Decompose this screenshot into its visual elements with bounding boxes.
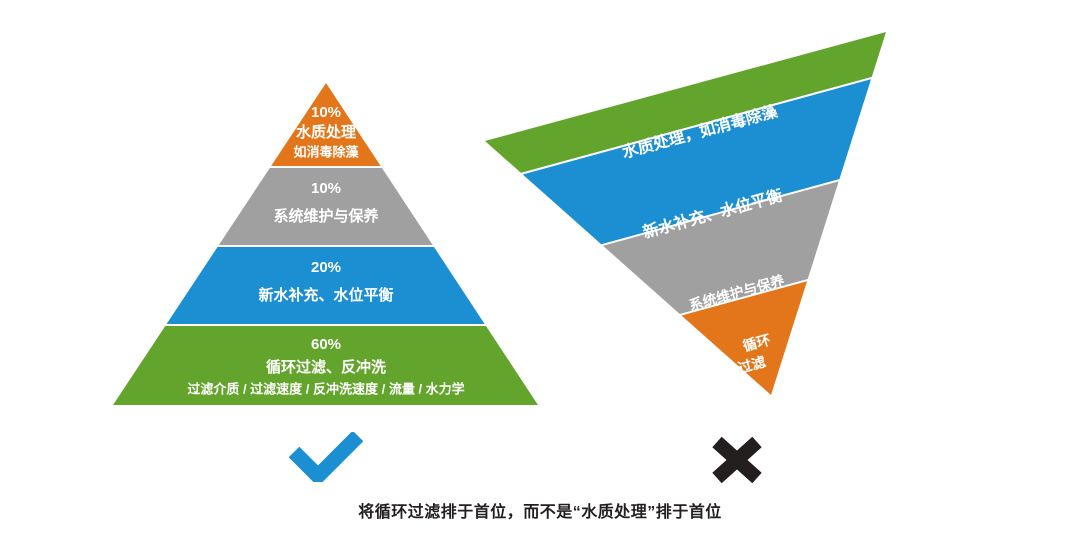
cross-strokes: [717, 442, 757, 478]
upright-third-label: 新水补充、水位平衡: [258, 286, 393, 304]
check-stroke: [294, 436, 358, 476]
diagram-canvas: 10% 水质处理 如消毒除藻 10% 系统维护与保养 20% 新水补充、水位平衡…: [0, 0, 1080, 539]
caption-text: 将循环过滤排于首位，而不是“水质处理”排于首位: [0, 498, 1080, 522]
upright-top-percent: 10%: [311, 104, 341, 121]
upright-second-percent: 10%: [311, 180, 341, 197]
diagram-svg: 10% 水质处理 如消毒除藻 10% 系统维护与保养 20% 新水补充、水位平衡…: [0, 0, 1080, 539]
check-icon[interactable]: [288, 432, 364, 482]
upright-top-label: 水质处理: [296, 123, 356, 141]
upright-second-label: 系统维护与保养: [273, 207, 379, 225]
upright-base-sublabel: 过滤介质 / 过滤速度 / 反冲洗速度 / 流量 / 水力学: [187, 381, 464, 396]
cross-icon[interactable]: [708, 433, 766, 487]
upright-third-percent: 20%: [311, 259, 341, 276]
upright-pyramid: 10% 水质处理 如消毒除藻 10% 系统维护与保养 20% 新水补充、水位平衡…: [100, 80, 560, 408]
upright-top-sublabel: 如消毒除藻: [293, 144, 359, 159]
upright-base-percent: 60%: [311, 336, 341, 353]
upright-base-label: 循环过滤、反冲洗: [266, 358, 386, 376]
upright-level-top-text: 10% 水质处理 如消毒除藻: [293, 104, 359, 159]
inverted-pyramid: 水质处理，如消毒除藻 新水补充、水位平衡 系统维护与保养 循环 过滤: [382, 0, 995, 484]
